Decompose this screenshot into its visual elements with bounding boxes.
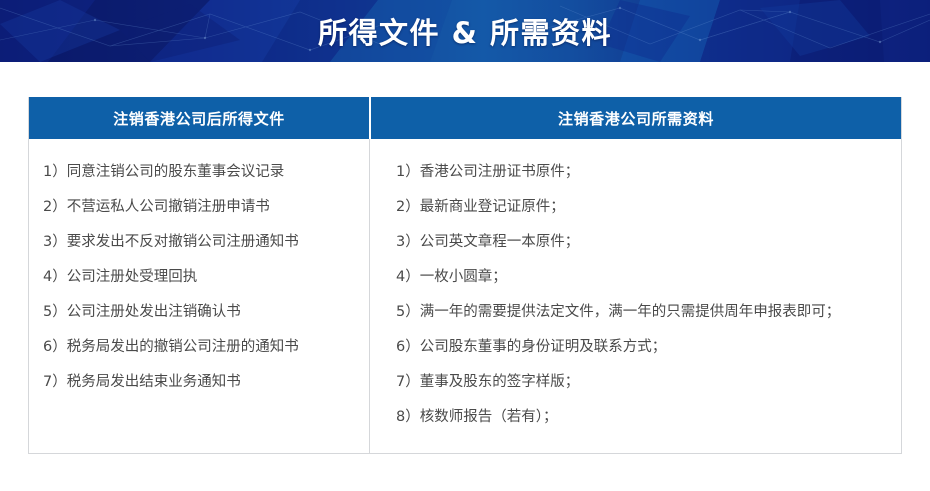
list-item: 8）核数师报告（若有）； <box>396 400 891 435</box>
list-item: 5）满一年的需要提供法定文件，满一年的只需提供周年申报表即可； <box>396 295 891 330</box>
page-banner: 所得文件 & 所需资料 <box>0 0 930 62</box>
required-materials-list: 1）香港公司注册证书原件； 2）最新商业登记证原件； 3）公司英文章程一本原件；… <box>396 155 891 435</box>
list-item: 3）要求发出不反对撤销公司注册通知书 <box>43 225 361 260</box>
list-item: 5）公司注册处发出注销确认书 <box>43 295 361 330</box>
list-item: 7）税务局发出结束业务通知书 <box>43 365 361 400</box>
list-item: 6）公司股东董事的身份证明及联系方式； <box>396 330 891 365</box>
obtained-documents-list: 1）同意注销公司的股东董事会议记录 2）不营运私人公司撤销注册申请书 3）要求发… <box>43 155 361 400</box>
table-header-row: 注销香港公司后所得文件 注销香港公司所需资料 <box>29 97 901 139</box>
cell-required-materials: 1）香港公司注册证书原件； 2）最新商业登记证原件； 3）公司英文章程一本原件；… <box>370 139 901 453</box>
list-item: 2）最新商业登记证原件； <box>396 190 891 225</box>
list-item: 1）同意注销公司的股东董事会议记录 <box>43 155 361 190</box>
documents-table: 注销香港公司后所得文件 注销香港公司所需资料 1）同意注销公司的股东董事会议记录… <box>28 97 902 454</box>
list-item: 1）香港公司注册证书原件； <box>396 155 891 190</box>
list-item: 2）不营运私人公司撤销注册申请书 <box>43 190 361 225</box>
column-header-required-materials: 注销香港公司所需资料 <box>371 97 901 139</box>
column-header-obtained-documents: 注销香港公司后所得文件 <box>29 97 369 139</box>
list-item: 7）董事及股东的签字样版； <box>396 365 891 400</box>
list-item: 4）一枚小圆章； <box>396 260 891 295</box>
cell-obtained-documents: 1）同意注销公司的股东董事会议记录 2）不营运私人公司撤销注册申请书 3）要求发… <box>29 139 369 453</box>
list-item: 3）公司英文章程一本原件； <box>396 225 891 260</box>
table-body-row: 1）同意注销公司的股东董事会议记录 2）不营运私人公司撤销注册申请书 3）要求发… <box>29 139 901 453</box>
page-title: 所得文件 & 所需资料 <box>0 0 930 62</box>
list-item: 4）公司注册处受理回执 <box>43 260 361 295</box>
list-item: 6）税务局发出的撤销公司注册的通知书 <box>43 330 361 365</box>
